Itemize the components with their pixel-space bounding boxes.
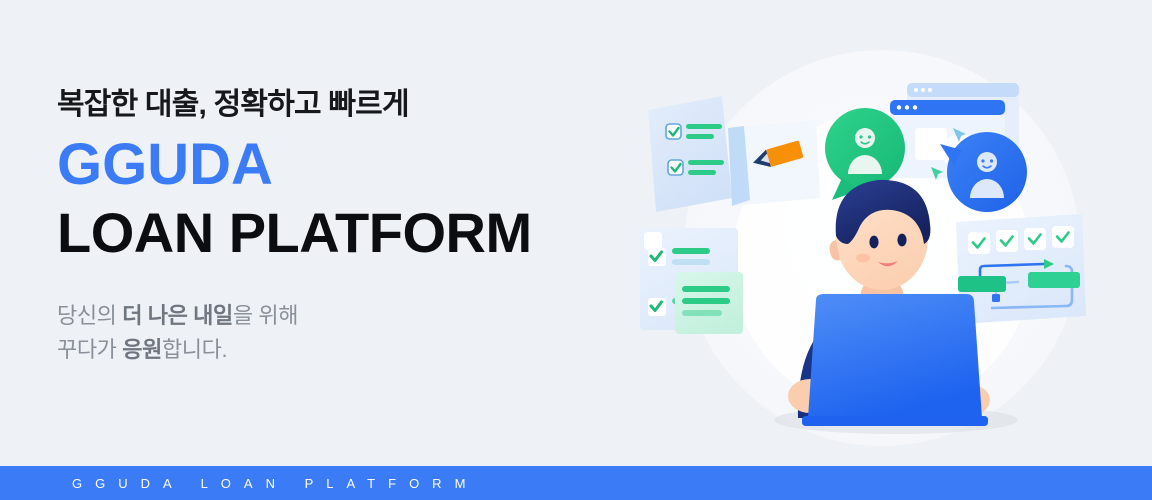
workflow-card-right (956, 214, 1086, 324)
hero-subtitle-line-2: 꾸다가 응원합니다. (57, 333, 617, 367)
hero-copy: 복잡한 대출, 정확하고 빠르게 GGUDA LOAN PLATFORM 당신의… (57, 86, 617, 367)
hero-subtitle-line-1: 당신의 더 나은 내일을 위해 (57, 299, 617, 333)
eye-left (869, 236, 878, 249)
subtitle-1-post: 을 위해 (233, 303, 298, 328)
avatar-head-blue (977, 152, 997, 172)
eye-right (897, 234, 906, 247)
subtitle-2-pre: 꾸다가 (57, 337, 122, 362)
avatar-head-green (855, 128, 875, 148)
illustration-svg (620, 0, 1152, 466)
checklist-card-top-left (648, 96, 732, 212)
hero-platform-title: LOAN PLATFORM (57, 202, 617, 265)
subtitle-1-strong: 더 나은 내일 (122, 303, 233, 328)
hero-illustration (620, 0, 1152, 466)
note-card-green (675, 272, 743, 334)
hero-banner: 복잡한 대출, 정확하고 빠르게 GGUDA LOAN PLATFORM 당신의… (0, 0, 1152, 500)
pencil-paper (728, 120, 820, 206)
hero-brand-title: GGUDA (57, 134, 617, 197)
hero-subtitle: 당신의 더 나은 내일을 위해 꾸다가 응원합니다. (57, 299, 617, 367)
laptop-base (802, 416, 988, 426)
laptop-lid (808, 294, 982, 418)
bottom-banner-text: GGUDA LOAN PLATFORM (0, 476, 478, 491)
subtitle-1-pre: 당신의 (57, 303, 122, 328)
bottom-banner: GGUDA LOAN PLATFORM (0, 466, 1152, 500)
hero-tagline: 복잡한 대출, 정확하고 빠르게 (57, 86, 617, 124)
subtitle-2-post: 합니다. (162, 337, 227, 362)
subtitle-2-strong: 응원 (122, 337, 162, 362)
cheek (856, 254, 870, 263)
